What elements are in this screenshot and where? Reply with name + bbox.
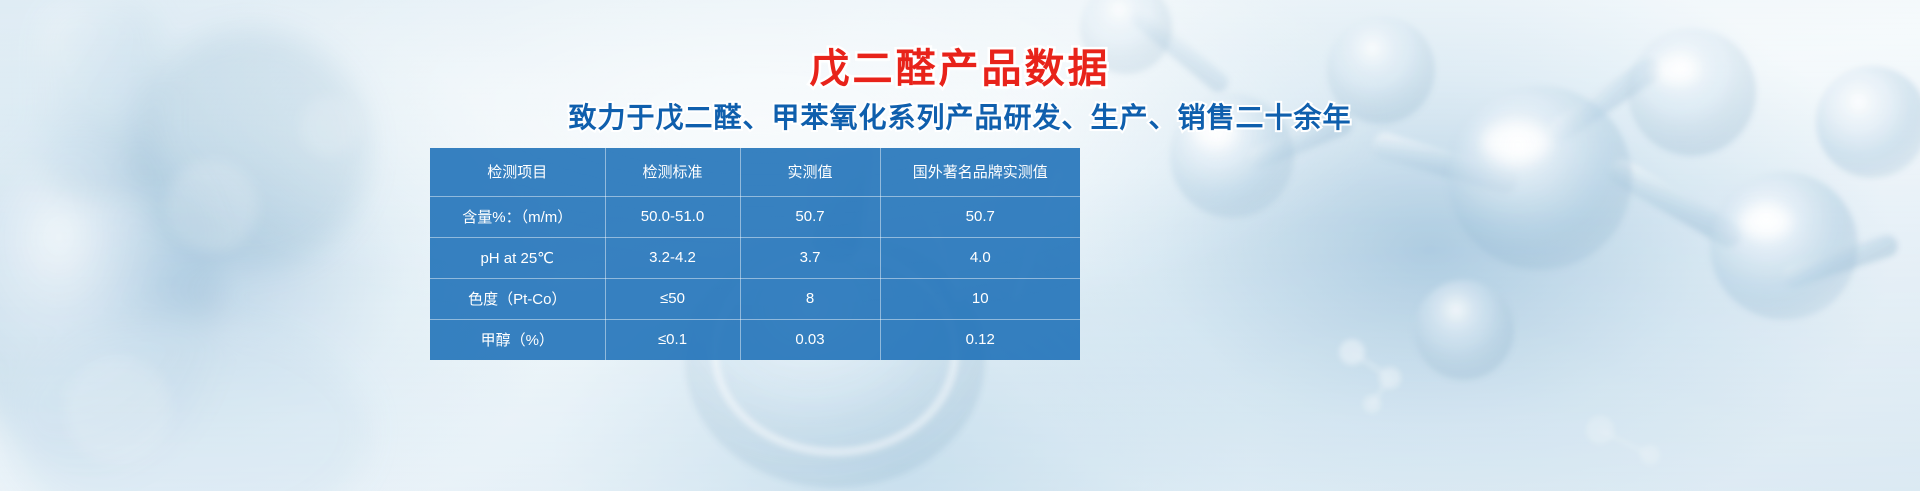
table-cell-measured: 50.7 <box>740 196 880 237</box>
page-subtitle: 致力于戊二醛、甲苯氧化系列产品研发、生产、销售二十余年 <box>0 101 1920 135</box>
table-cell-standard: ≤50 <box>605 278 740 319</box>
table-header-cell-measured: 实测值 <box>740 148 880 196</box>
page-title: 戊二醛产品数据 <box>0 46 1920 92</box>
product-data-table-wrapper: 检测项目 检测标准 实测值 国外著名品牌实测值 含量%：（m/m） 50.0-5… <box>430 148 1080 360</box>
table-cell-item: 色度（Pt-Co） <box>430 278 605 319</box>
product-data-table: 检测项目 检测标准 实测值 国外著名品牌实测值 含量%：（m/m） 50.0-5… <box>430 148 1080 360</box>
table-cell-item: 甲醇（%） <box>430 319 605 360</box>
table-cell-item: pH at 25℃ <box>430 237 605 278</box>
table-row: pH at 25℃ 3.2-4.2 3.7 4.0 <box>430 237 1080 278</box>
product-data-banner: 戊二醛产品数据 致力于戊二醛、甲苯氧化系列产品研发、生产、销售二十余年 检测项目… <box>0 0 1920 491</box>
table-cell-item: 含量%：（m/m） <box>430 196 605 237</box>
table-header-cell-item: 检测项目 <box>430 148 605 196</box>
banner-headings: 戊二醛产品数据 致力于戊二醛、甲苯氧化系列产品研发、生产、销售二十余年 <box>0 46 1920 135</box>
table-row: 色度（Pt-Co） ≤50 8 10 <box>430 278 1080 319</box>
table-cell-measured: 3.7 <box>740 237 880 278</box>
table-cell-measured: 0.03 <box>740 319 880 360</box>
table-cell-foreign: 0.12 <box>880 319 1080 360</box>
table-header-row: 检测项目 检测标准 实测值 国外著名品牌实测值 <box>430 148 1080 196</box>
table-cell-measured: 8 <box>740 278 880 319</box>
table-cell-foreign: 10 <box>880 278 1080 319</box>
table-cell-standard: 3.2-4.2 <box>605 237 740 278</box>
table-cell-standard: ≤0.1 <box>605 319 740 360</box>
table-row: 含量%：（m/m） 50.0-51.0 50.7 50.7 <box>430 196 1080 237</box>
table-cell-foreign: 4.0 <box>880 237 1080 278</box>
table-cell-foreign: 50.7 <box>880 196 1080 237</box>
table-body: 含量%：（m/m） 50.0-51.0 50.7 50.7 pH at 25℃ … <box>430 196 1080 360</box>
table-header-cell-standard: 检测标准 <box>605 148 740 196</box>
table-cell-standard: 50.0-51.0 <box>605 196 740 237</box>
table-header: 检测项目 检测标准 实测值 国外著名品牌实测值 <box>430 148 1080 196</box>
table-header-cell-foreign: 国外著名品牌实测值 <box>880 148 1080 196</box>
table-row: 甲醇（%） ≤0.1 0.03 0.12 <box>430 319 1080 360</box>
